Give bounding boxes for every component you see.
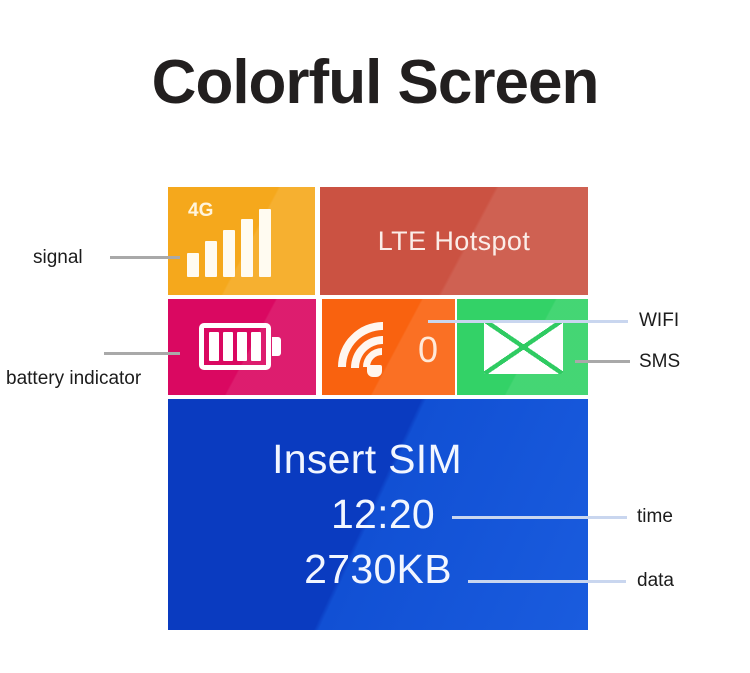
hotspot-label: LTE Hotspot <box>320 187 588 295</box>
callout-data: data <box>637 571 674 590</box>
signal-bar <box>205 241 217 277</box>
tile-signal[interactable]: 4G <box>168 187 315 295</box>
signal-bar <box>259 209 271 277</box>
envelope-flap <box>484 320 563 374</box>
battery-cell <box>237 332 247 361</box>
battery-icon <box>199 323 271 370</box>
clock-text: 12:20 <box>331 489 435 540</box>
sim-status-text: Insert SIM <box>272 434 462 485</box>
callout-signal: signal <box>33 248 83 267</box>
leader-line-wifi <box>428 320 628 323</box>
signal-bar <box>223 230 235 277</box>
signal-bar <box>241 219 253 277</box>
signal-bar <box>187 253 199 277</box>
page-title: Colorful Screen <box>0 52 750 114</box>
device-screen: 4G LTE Hotspot 0 <box>168 187 588 630</box>
wifi-icon <box>338 318 414 376</box>
leader-line-sms <box>575 360 630 363</box>
battery-cell <box>251 332 261 361</box>
envelope-icon <box>484 320 563 374</box>
callout-sms: SMS <box>639 352 680 371</box>
leader-line-battery <box>104 352 180 355</box>
battery-cell <box>223 332 233 361</box>
callout-time: time <box>637 507 673 526</box>
callout-battery-indicator: battery indicator <box>6 369 141 388</box>
tile-lte-hotspot[interactable]: LTE Hotspot <box>320 187 588 295</box>
tile-sms[interactable] <box>457 299 588 395</box>
leader-line-time <box>452 516 627 519</box>
callout-wifi: WIFI <box>639 311 679 330</box>
leader-line-signal <box>110 256 180 259</box>
tile-wifi[interactable]: 0 <box>322 299 455 395</box>
battery-cell <box>209 332 219 361</box>
battery-terminal-nub <box>272 337 281 356</box>
data-usage-text: 2730KB <box>304 544 452 595</box>
wifi-dot <box>367 365 382 377</box>
wifi-client-count: 0 <box>418 332 438 368</box>
tile-info-panel[interactable]: Insert SIM 12:20 2730KB <box>168 399 588 630</box>
tile-battery[interactable] <box>168 299 316 395</box>
leader-line-data <box>468 580 626 583</box>
info-lines: Insert SIM 12:20 2730KB <box>168 399 588 630</box>
signal-bars-icon <box>187 211 279 277</box>
